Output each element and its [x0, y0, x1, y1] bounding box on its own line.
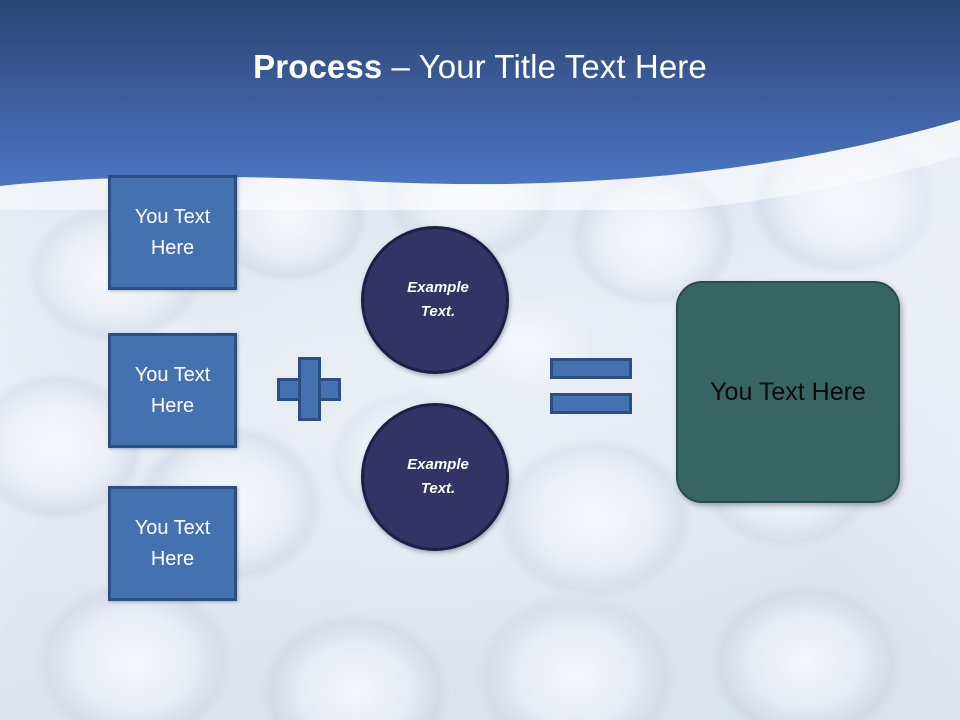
example-circle-2[interactable]: Example Text. — [361, 403, 509, 551]
example-circle-1-label: Example Text. — [401, 276, 469, 324]
title-strong: Process — [253, 48, 382, 85]
example-circle-1-line2: Text. — [421, 303, 455, 320]
plus-center-fill — [301, 381, 318, 398]
example-circle-2-label: Example Text. — [401, 453, 469, 501]
input-box-3[interactable]: You Text Here — [108, 486, 237, 601]
slide-canvas: Process – Your Title Text Here You Text … — [0, 0, 960, 720]
equals-icon — [550, 358, 632, 414]
input-box-2[interactable]: You Text Here — [108, 333, 237, 448]
equals-bottom-bar — [550, 393, 632, 414]
input-box-1-label: You Text Here — [111, 202, 234, 264]
title-rest: – Your Title Text Here — [382, 48, 707, 85]
plus-icon — [277, 357, 341, 421]
result-box[interactable]: You Text Here — [676, 281, 900, 503]
input-box-2-label: You Text Here — [111, 360, 234, 422]
page-title: Process – Your Title Text Here — [0, 46, 960, 88]
input-box-3-label: You Text Here — [111, 513, 234, 575]
example-circle-1-line1: Example — [407, 279, 469, 296]
example-circle-2-line1: Example — [407, 456, 469, 473]
example-circle-2-line2: Text. — [421, 480, 455, 497]
input-box-1[interactable]: You Text Here — [108, 175, 237, 290]
equals-top-bar — [550, 358, 632, 379]
result-box-label: You Text Here — [710, 378, 866, 407]
example-circle-1[interactable]: Example Text. — [361, 226, 509, 374]
